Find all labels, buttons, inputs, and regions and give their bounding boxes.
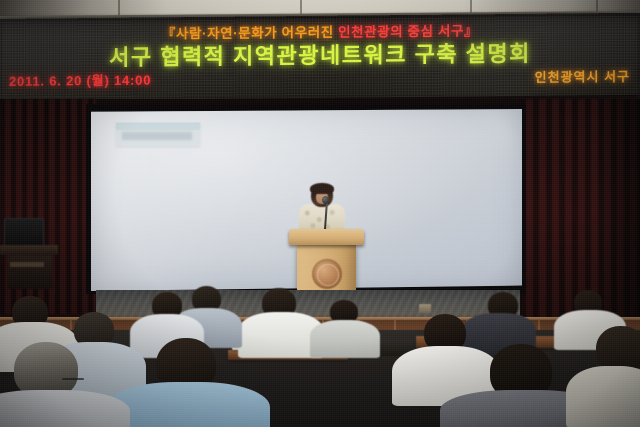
audience-shoulders <box>106 382 270 427</box>
audience-shoulders <box>0 390 130 427</box>
slide-title-bar <box>116 123 200 130</box>
photograph-conference-hall: 『사람·자연·문화가 어우러진 인천관광의 중심 서구』 서구 협력적 지역관광… <box>0 0 640 427</box>
district-emblem-icon <box>312 259 342 289</box>
eyeglasses-icon <box>62 378 84 380</box>
banner-date-time: 2011. 6. 20 (월) 14:00 <box>9 70 151 90</box>
slide-subtitle-text <box>122 132 192 140</box>
audience-shoulders <box>310 320 380 358</box>
wall-outlet-plate <box>419 304 431 313</box>
av-monitor <box>4 218 44 247</box>
stage-curtain-right-shadow <box>600 99 640 324</box>
led-marquee-banner: 『사람·자연·문화가 어우러진 인천관광의 중심 서구』 서구 협력적 지역관광… <box>0 13 640 101</box>
av-rack-shelf <box>10 262 44 267</box>
banner-organizer: 인천광역시 서구 <box>535 66 630 86</box>
av-desk <box>0 245 58 255</box>
microphone-icon <box>322 196 329 204</box>
presenter-hair <box>310 183 334 194</box>
av-equipment-rack <box>8 255 52 289</box>
audience-shoulders <box>566 366 640 427</box>
podium-top <box>289 229 364 245</box>
